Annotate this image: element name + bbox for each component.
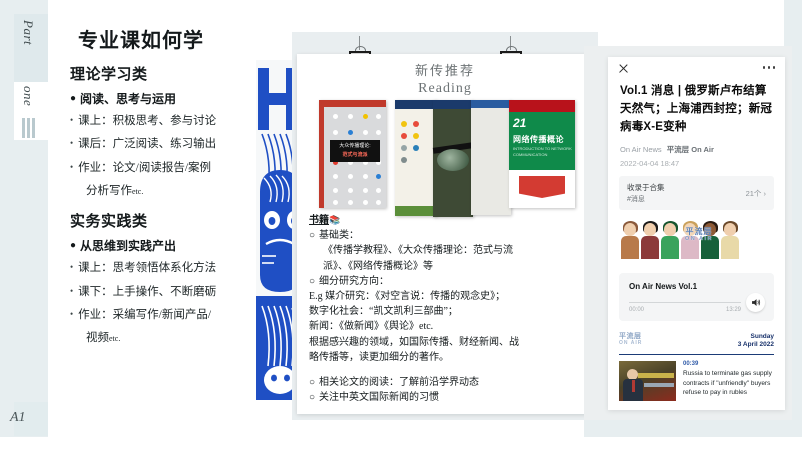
- book-5-red-flag-shape: [519, 176, 565, 198]
- audio-title: On Air News Vol.1: [629, 282, 764, 291]
- note-body-line-text: 根据感兴趣的领域，如国际传播、财经新闻、战: [309, 337, 519, 348]
- audio-current-time: 00:00: [629, 307, 644, 313]
- article-account[interactable]: 平流层 On Air: [667, 145, 714, 154]
- section-lead-practice: ● 从思维到实践产出: [70, 238, 250, 254]
- news-item-time: 00:39: [683, 361, 774, 367]
- note-body-line-text: 相关论文的阅读：了解前沿学界动态: [319, 377, 479, 388]
- list-item-label: 课上：思考领悟体系化方法: [78, 260, 216, 277]
- audio-player[interactable]: On Air News Vol.1 00:00 13:29: [619, 273, 774, 321]
- etc-suffix: etc.: [132, 187, 143, 196]
- note-title: 新传推荐 Reading: [297, 62, 593, 98]
- note-body-heading-label: 书籍: [309, 215, 329, 226]
- section-lead-theory: ● 阅读、思考与运用: [70, 91, 250, 107]
- book-cover-3: [433, 100, 473, 217]
- bullet-small-icon: •: [70, 113, 73, 128]
- bullet-circle-icon: ○: [309, 392, 315, 403]
- list-item-continuation: 分析写作etc.: [86, 183, 250, 200]
- news-date-day: Sunday: [738, 333, 774, 341]
- collection-card[interactable]: 收录于合集 #消息 21个 ›: [619, 176, 774, 209]
- note-body-line-text: 关注中英文国际新闻的习惯: [319, 392, 439, 403]
- bullet-small-icon: •: [70, 260, 73, 275]
- article-byline: On Air News平流层 On Air: [620, 144, 773, 155]
- news-divider: [619, 354, 774, 356]
- corner-label-badge: A1: [14, 402, 48, 436]
- list-item-label: 作业：采编写作/新闻产品/: [78, 307, 211, 324]
- note-body-line-text: 数字化社会：“凯文凯利三部曲”；: [309, 306, 458, 317]
- speaker-icon[interactable]: [746, 293, 765, 312]
- note-body-line-text: 《传播学教程》、《大众传播理论：范式与流: [323, 245, 513, 256]
- bullet-small-icon: •: [70, 136, 73, 151]
- list-item-label: 作业：论文/阅读报告/案例: [78, 160, 211, 177]
- collection-label: 收录于合集: [627, 182, 665, 193]
- book-1-title-plate: 大众传播理论: 范式与流派: [330, 140, 380, 162]
- section-lead-theory-text: 阅读、思考与运用: [80, 91, 176, 107]
- news-date-full: 3 April 2022: [738, 341, 774, 349]
- news-digest-block: 平流层 ON AIR Sunday 3 April 2022: [619, 333, 774, 401]
- part-label-line2: one: [20, 86, 36, 106]
- note-body-line-text: 派》、《网络传播概论》等: [323, 261, 433, 272]
- note-title-en: Reading: [297, 80, 593, 99]
- note-body-line: 派》、《网络传播概论》等: [323, 260, 585, 274]
- list-item: • 作业：论文/阅读报告/案例: [70, 160, 250, 177]
- note-body-line: 《传播学教程》、《大众传播理论：范式与流: [323, 244, 585, 258]
- news-logo: 平流层 ON AIR: [619, 333, 642, 347]
- book-cover-2: [395, 100, 437, 216]
- etc-suffix: etc.: [109, 334, 120, 343]
- decorative-bars-icon: [22, 118, 35, 138]
- page-title: 专业课如何学: [78, 24, 250, 53]
- wechat-article-panel: Vol.1 消息 | 俄罗斯卢布结算天然气；上海浦西封控；新冠病毒X-E变种 O…: [608, 57, 785, 410]
- note-body-line: 数字化社会：“凯文凯利三部曲”；: [309, 305, 585, 319]
- avatar: [620, 221, 640, 259]
- list-item: • 课上：积极思考、参与讨论: [70, 113, 250, 130]
- book-1-title-line2: 范式与流派: [330, 151, 380, 160]
- note-body-heading: 书籍📚: [309, 214, 585, 228]
- book-1-title-line1: 大众传播理论:: [339, 143, 370, 149]
- books-emoji-icon: 📚: [329, 215, 340, 225]
- collection-count-value: 21个: [746, 189, 762, 198]
- article-title: Vol.1 消息 | 俄罗斯卢布结算天然气；上海浦西封控；新冠病毒X-E变种: [620, 83, 773, 136]
- bullet-circle-icon: ○: [309, 377, 315, 388]
- list-item-label: 课下：上手操作、不断磨砺: [78, 284, 216, 301]
- news-item[interactable]: 00:39 Russia to terminate gas supply con…: [619, 361, 774, 401]
- audio-progress-track[interactable]: [629, 302, 741, 303]
- book-cover-4: [471, 100, 511, 215]
- note-title-cn: 新传推荐: [415, 63, 475, 78]
- globe-icon: [437, 149, 469, 171]
- note-body-line-text: 新闻：《做新闻》《舆论》etc.: [309, 321, 433, 332]
- book-5-series-number: 21: [513, 116, 526, 130]
- note-body-line: ○关注中英文国际新闻的习惯: [309, 391, 585, 405]
- article-author[interactable]: On Air News: [620, 145, 662, 154]
- list-item: • 课下：上手操作、不断磨砺: [70, 284, 250, 301]
- article-date: 2022-04-04 18:47: [620, 159, 773, 168]
- note-body-line: 根据感兴趣的领域，如国际传播、财经新闻、战: [309, 336, 585, 350]
- collection-count: 21个 ›: [746, 188, 766, 199]
- note-body-line: ○细分研究方向：: [309, 275, 585, 289]
- bullet-small-icon: •: [70, 160, 73, 175]
- list-item: • 课上：思考领悟体系化方法: [70, 260, 250, 277]
- bullet-filled-icon: ●: [70, 91, 76, 106]
- book-5-subtitle: INTRODUCTION TO NETWORK COMMUNICATION: [513, 146, 575, 157]
- close-icon[interactable]: [618, 63, 629, 74]
- note-body-line: E.g 媒介研究：《对空言说：传播的观念史》；: [309, 290, 585, 304]
- list-item-label: 课上：积极思考、参与讨论: [78, 113, 216, 130]
- corner-label-text: A1: [10, 410, 26, 426]
- person-photo-icon: [623, 369, 643, 401]
- article-hero-image: 平流层 ON AIR: [608, 219, 785, 263]
- book-cover-5: 21 网络传播概论 INTRODUCTION TO NETWORK COMMUN…: [509, 100, 575, 208]
- note-body-line: ○基础类：: [309, 229, 585, 243]
- note-body-line: 略传播等，读更加细分的著作。: [309, 351, 585, 365]
- list-item-label: 课后：广泛阅读、练习输出: [78, 136, 216, 153]
- bullet-circle-icon: ○: [309, 230, 315, 241]
- audio-duration: 13:29: [726, 307, 741, 313]
- slide-root: Part one A1 专业课如何学 理论学习类 ● 阅读、思考与运用 • 课上…: [0, 0, 802, 460]
- more-dots-icon[interactable]: [763, 66, 776, 69]
- note-body-line: 新闻：《做新闻》《舆论》etc.: [309, 320, 585, 334]
- audio-times: 00:00 13:29: [629, 307, 741, 313]
- list-item-continuation-text: 视频: [86, 332, 109, 344]
- book-cover-row: 大众传播理论: 范式与流派: [313, 100, 581, 210]
- note-body-text: 书籍📚 ○基础类： 《传播学教程》、《大众传播理论：范式与流 派》、《网络传播概…: [309, 214, 585, 406]
- hero-brand-label: 平流层 ON AIR: [672, 227, 726, 243]
- news-logo-cn: 平流层: [619, 333, 642, 340]
- news-logo-en: ON AIR: [619, 341, 642, 347]
- list-item-continuation-text: 分析写作: [86, 185, 132, 197]
- avatar: [640, 221, 660, 259]
- bullet-circle-icon: ○: [309, 276, 315, 287]
- note-body-line-text: 细分研究方向：: [319, 276, 389, 287]
- list-item-continuation: 视频etc.: [86, 330, 250, 347]
- note-body-line-text: 略传播等，读更加细分的著作。: [309, 352, 449, 363]
- news-item-text: 00:39 Russia to terminate gas supply con…: [683, 361, 774, 401]
- left-content-column: 专业课如何学 理论学习类 ● 阅读、思考与运用 • 课上：积极思考、参与讨论 •…: [70, 16, 250, 349]
- book-cover-1: 大众传播理论: 范式与流派: [319, 100, 386, 208]
- bullet-small-icon: •: [70, 284, 73, 299]
- phone-bottom-strip: [584, 420, 792, 437]
- section-heading-theory: 理论学习类: [70, 63, 250, 84]
- section-heading-practice: 实务实践类: [70, 210, 250, 231]
- collection-tag[interactable]: #消息: [627, 194, 665, 204]
- reading-note-card: 新传推荐 Reading 大众传播理论: 范式与流派: [297, 54, 593, 414]
- article-toolbar: [608, 57, 785, 79]
- note-body-line-text: 基础类：: [319, 230, 359, 241]
- note-body-line-text: E.g 媒介研究：《对空言说：传播的观念史》；: [309, 291, 505, 302]
- hero-brand-en: ON AIR: [672, 236, 726, 243]
- section-lead-practice-text: 从思维到实践产出: [80, 238, 176, 254]
- book-5-title: 网络传播概论: [513, 134, 564, 145]
- bullet-filled-icon: ●: [70, 238, 76, 253]
- news-date: Sunday 3 April 2022: [738, 333, 774, 350]
- news-digest-header: 平流层 ON AIR Sunday 3 April 2022: [619, 333, 774, 350]
- list-item: • 课后：广泛阅读、练习输出: [70, 136, 250, 153]
- note-body-line: ○相关论文的阅读：了解前沿学界动态: [309, 376, 585, 390]
- list-item: • 作业：采编写作/新闻产品/: [70, 307, 250, 324]
- news-item-headline: Russia to terminate gas supply contracts…: [683, 369, 774, 397]
- chevron-right-icon: ›: [764, 189, 767, 198]
- news-thumbnail: [619, 361, 676, 401]
- part-label-line1: Part: [20, 20, 36, 45]
- hero-brand-cn: 平流层: [686, 227, 713, 236]
- bullet-small-icon: •: [70, 307, 73, 322]
